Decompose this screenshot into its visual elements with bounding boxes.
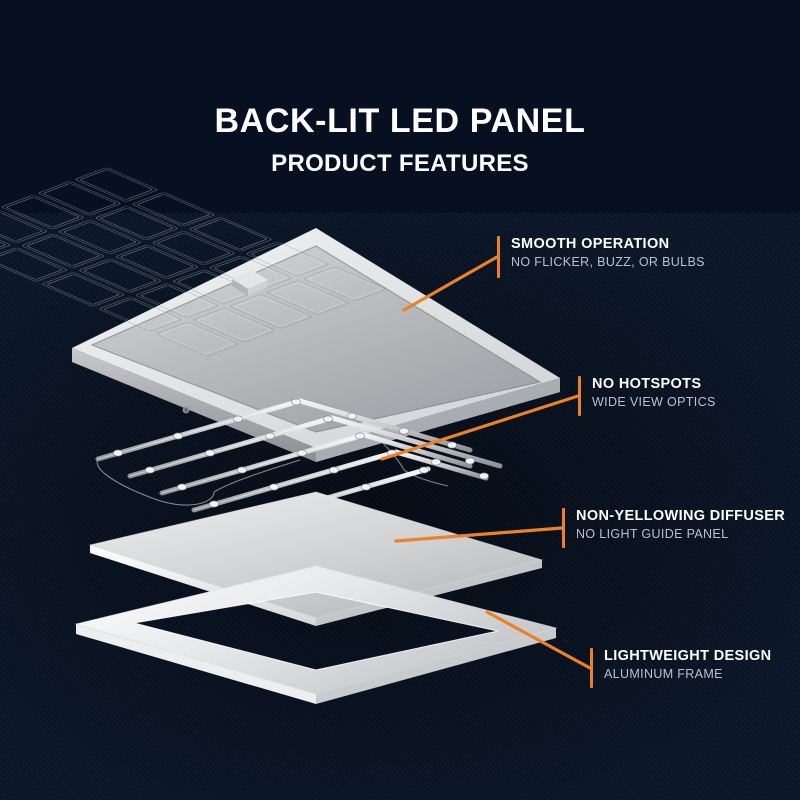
- callout-text: LIGHTWEIGHT DESIGN ALUMINUM FRAME: [593, 648, 771, 688]
- housing-panel: [0, 167, 560, 462]
- callout-subtitle: ALUMINUM FRAME: [604, 665, 771, 682]
- callout-title: LIGHTWEIGHT DESIGN: [604, 648, 771, 665]
- heading-block: BACK-LIT LED PANEL PRODUCT FEATURES: [0, 0, 800, 176]
- callout-non-yellowing-diffuser[interactable]: NON-YELLOWING DIFFUSER NO LIGHT GUIDE PA…: [562, 508, 785, 548]
- callout-lightweight-design[interactable]: LIGHTWEIGHT DESIGN ALUMINUM FRAME: [590, 648, 771, 688]
- page-subtitle: PRODUCT FEATURES: [0, 140, 800, 176]
- callout-title: NO HOTSPOTS: [592, 376, 716, 393]
- callout-smooth-operation[interactable]: SMOOTH OPERATION NO FLICKER, BUZZ, OR BU…: [497, 236, 705, 278]
- callout-text: SMOOTH OPERATION NO FLICKER, BUZZ, OR BU…: [500, 236, 705, 278]
- callout-no-hotspots[interactable]: NO HOTSPOTS WIDE VIEW OPTICS: [578, 376, 716, 416]
- callout-subtitle: NO FLICKER, BUZZ, OR BULBS: [511, 253, 705, 270]
- callout-subtitle: WIDE VIEW OPTICS: [592, 393, 716, 410]
- callout-text: NON-YELLOWING DIFFUSER NO LIGHT GUIDE PA…: [565, 508, 785, 548]
- page-title: BACK-LIT LED PANEL: [0, 0, 800, 140]
- leader-line-smooth-operation: [404, 257, 497, 310]
- callout-title: NON-YELLOWING DIFFUSER: [576, 508, 785, 525]
- callout-text: NO HOTSPOTS WIDE VIEW OPTICS: [581, 376, 716, 416]
- aluminum-frame: [76, 566, 556, 704]
- callout-subtitle: NO LIGHT GUIDE PANEL: [576, 525, 785, 542]
- product-feature-graphic: BACK-LIT LED PANEL PRODUCT FEATURES: [0, 0, 800, 800]
- callout-title: SMOOTH OPERATION: [511, 236, 705, 253]
